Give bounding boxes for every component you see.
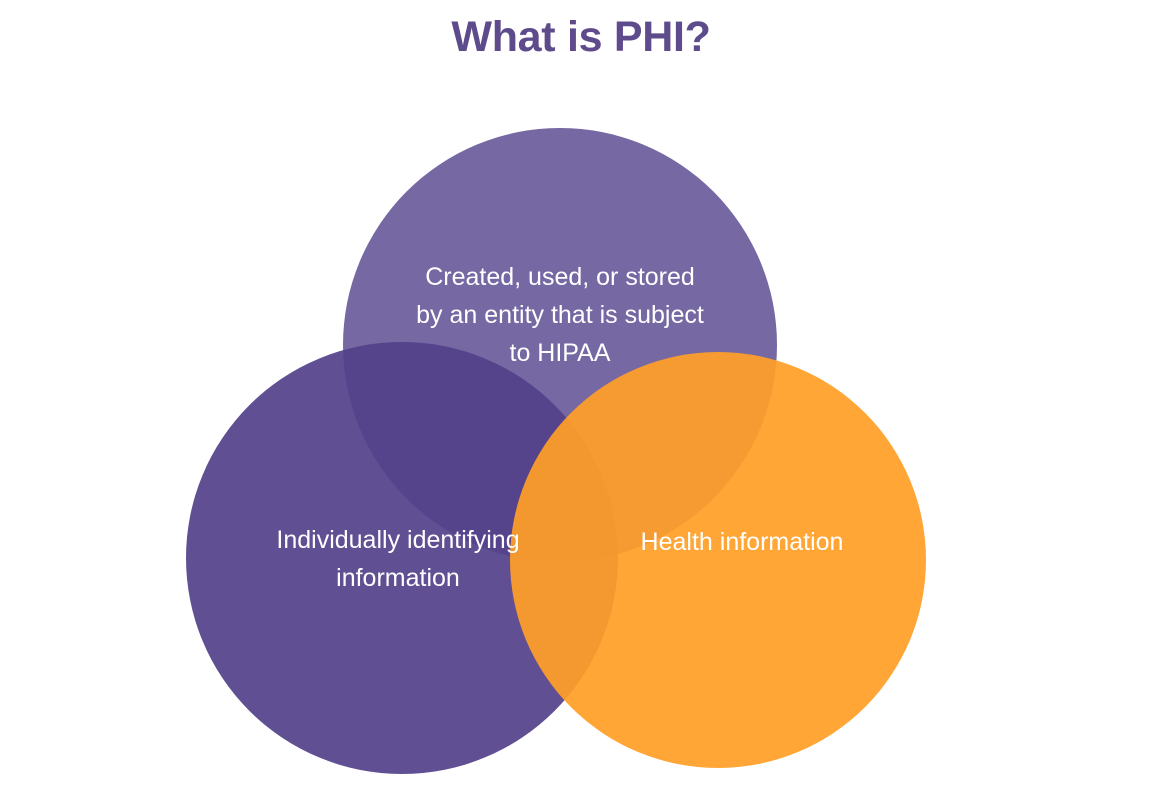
venn-diagram-page: What is PHI? Created, used, or stored by… bbox=[0, 0, 1162, 794]
venn-circle-group bbox=[186, 128, 926, 774]
venn-diagram: Created, used, or stored by an entity th… bbox=[0, 0, 1162, 794]
venn-circle-health-information[interactable] bbox=[510, 352, 926, 768]
venn-circles-svg bbox=[0, 0, 1162, 794]
